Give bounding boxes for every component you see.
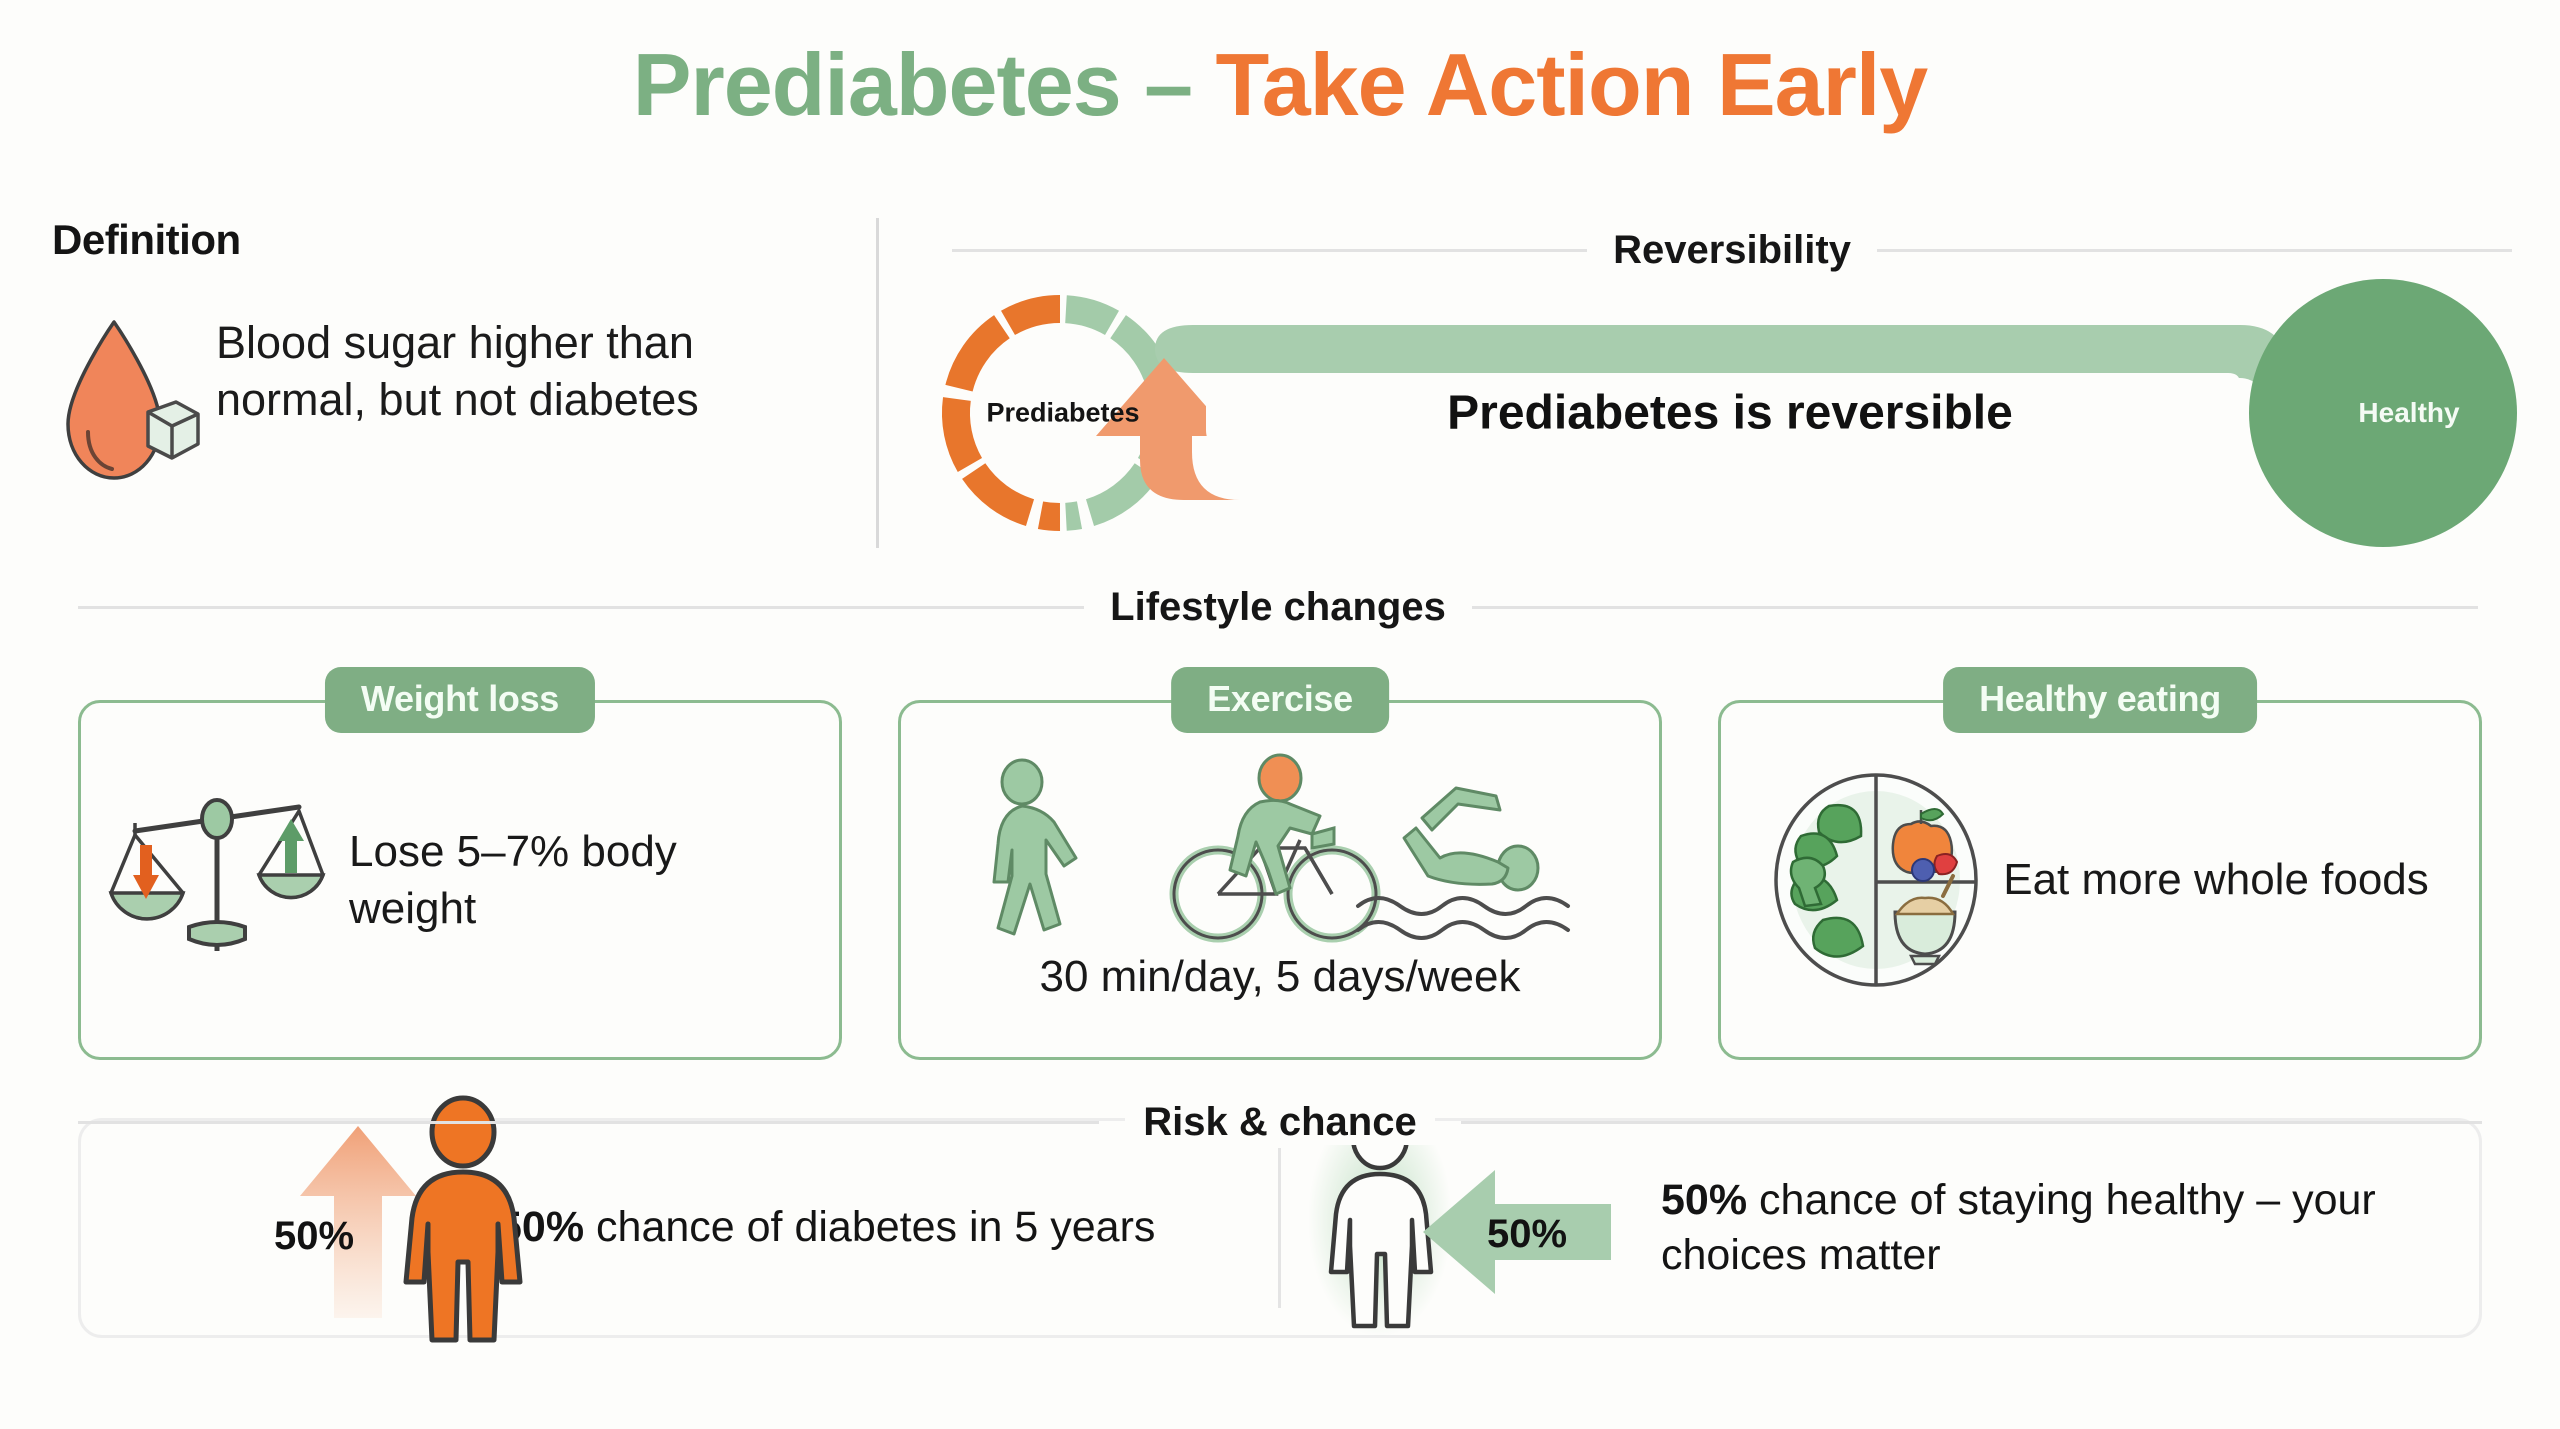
card-healthy-eating[interactable]: Healthy eating (1718, 700, 2482, 1060)
risk-heading: Risk & chance (78, 1100, 2482, 1145)
balance-scale-icon (107, 775, 327, 985)
definition-heading: Definition (52, 216, 832, 264)
card-exercise-badge: Exercise (1171, 667, 1389, 733)
risk-heading-label: Risk & chance (1125, 1100, 1434, 1145)
lifestyle-heading: Lifestyle changes (78, 585, 2478, 630)
heading-rule-left (78, 1121, 1099, 1124)
heading-rule-left (952, 249, 1587, 252)
lifestyle-cards: Weight loss (78, 700, 2482, 1060)
card-healthy-eating-badge: Healthy eating (1943, 667, 2257, 733)
card-exercise-caption: 30 min/day, 5 days/week (1040, 952, 1521, 1002)
heading-rule-left (78, 606, 1084, 609)
risk-left-text-rest: chance of diabetes in 5 years (584, 1203, 1155, 1251)
healthy-plate-icon (1771, 770, 1981, 990)
title-part-orange: Take Action Early (1216, 35, 1928, 134)
infographic-page: Prediabetes – Take Action Early Definiti… (0, 0, 2560, 1429)
title-part-green: Prediabetes (633, 35, 1144, 134)
definition-section: Definition Blood sugar higher than norma… (52, 216, 832, 536)
definition-reversibility-divider (876, 218, 879, 548)
healthy-state-label: Healthy (2298, 397, 2520, 429)
card-weight-loss[interactable]: Weight loss (78, 700, 842, 1060)
heading-rule-right (1877, 249, 2512, 252)
definition-text: Blood sugar higher than normal, but not … (202, 308, 832, 428)
prediabetes-state-label: Prediabetes (945, 398, 1181, 429)
card-weight-loss-text: Lose 5–7% body weight (349, 823, 813, 937)
page-title: Prediabetes – Take Action Early (0, 34, 2560, 136)
card-healthy-eating-text: Eat more whole foods (2003, 851, 2429, 908)
title-part-dash: – (1144, 35, 1215, 134)
risk-right-text-rest: chance of staying healthy – your choices… (1661, 1176, 2376, 1279)
risk-left-percent-badge: 50% (274, 1214, 354, 1259)
reversibility-message: Prediabetes is reversible (1447, 386, 2013, 441)
heading-rule-right (1472, 606, 2478, 609)
card-exercise[interactable]: Exercise (898, 700, 1662, 1060)
risk-right-text: 50% chance of staying healthy – your cho… (1661, 1173, 2441, 1283)
reversibility-heading-label: Reversibility (1613, 228, 1851, 273)
reversibility-diagram: Prediabetes Prediabetes is reversible He… (940, 278, 2520, 548)
walk-bike-swim-icon (960, 758, 1600, 948)
blood-drop-sugar-cube-icon (52, 308, 202, 498)
risk-left-text: 50% chance of diabetes in 5 years (498, 1200, 1155, 1255)
lifestyle-heading-label: Lifestyle changes (1110, 585, 1446, 630)
heading-rule-right (1461, 1121, 2482, 1124)
card-weight-loss-badge: Weight loss (325, 667, 595, 733)
risk-right-group: 50% 50% chance of staying healthy – your… (1281, 1118, 2482, 1338)
reversibility-heading: Reversibility (952, 228, 2512, 273)
risk-right-percent-badge: 50% (1487, 1212, 1567, 1257)
risk-right-text-bold: 50% (1661, 1176, 1747, 1224)
risk-left-group: 50% 50% chance of diabetes in 5 years (78, 1118, 1278, 1338)
